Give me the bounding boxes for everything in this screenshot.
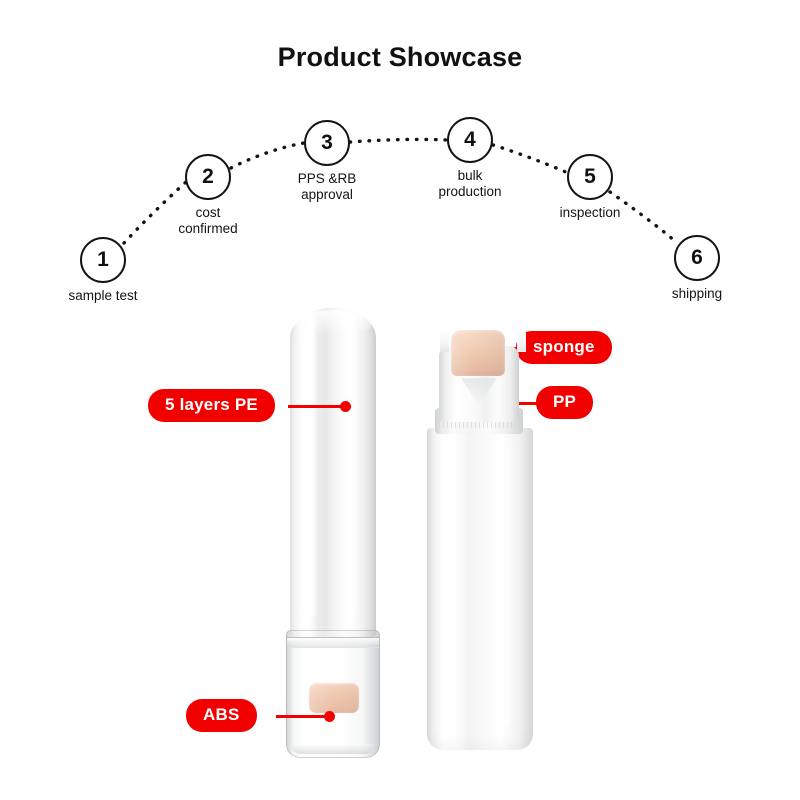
tube-gloss-highlight — [304, 318, 317, 618]
step-label-2: cost confirmed — [118, 205, 298, 236]
tube-gloss-highlight-right — [445, 440, 459, 735]
product-image-right — [427, 330, 539, 750]
step-number-1: 1 — [80, 237, 126, 283]
leader-line-5-layers-pe — [288, 405, 348, 408]
process-arc — [0, 0, 800, 800]
product-image-left — [274, 308, 392, 758]
pp-notch-right — [517, 330, 526, 352]
step-label-4: bulk production — [380, 168, 560, 199]
leader-line-abs — [276, 715, 331, 718]
callout-label-pp[interactable]: PP — [536, 386, 593, 419]
step-number-5: 5 — [567, 154, 613, 200]
leader-dot-abs — [324, 711, 335, 722]
pe-tube-body-right — [427, 428, 533, 750]
cap-bottom-rim — [291, 744, 375, 754]
cap-rim — [287, 637, 379, 648]
tube-gloss-highlight-secondary — [350, 324, 358, 614]
step-number-3: 3 — [304, 120, 350, 166]
step-number-4: 4 — [447, 117, 493, 163]
leader-dot-5-layers-pe — [340, 401, 351, 412]
tube-gloss-highlight-right-secondary — [503, 446, 513, 726]
page-title: Product Showcase — [0, 42, 800, 73]
abs-clear-cap — [286, 630, 380, 758]
sponge-applicator-head — [451, 330, 505, 376]
callout-label-5-layers-pe[interactable]: 5 layers PE — [148, 389, 275, 422]
callout-label-sponge[interactable]: sponge — [516, 331, 612, 364]
showcase-canvas: Product Showcase 1 sample test 2 cost co… — [0, 0, 800, 800]
step-number-6: 6 — [674, 235, 720, 281]
sponge-applicator-inside-cap — [309, 683, 359, 713]
pp-holder-shading — [461, 378, 497, 406]
step-label-5: inspection — [500, 205, 680, 221]
step-label-6: shipping — [607, 286, 787, 302]
step-number-2: 2 — [185, 154, 231, 200]
pp-notch-left — [440, 330, 449, 352]
callout-label-abs[interactable]: ABS — [186, 699, 257, 732]
step-label-1: sample test — [13, 288, 193, 304]
pe-tube-body — [290, 308, 376, 638]
